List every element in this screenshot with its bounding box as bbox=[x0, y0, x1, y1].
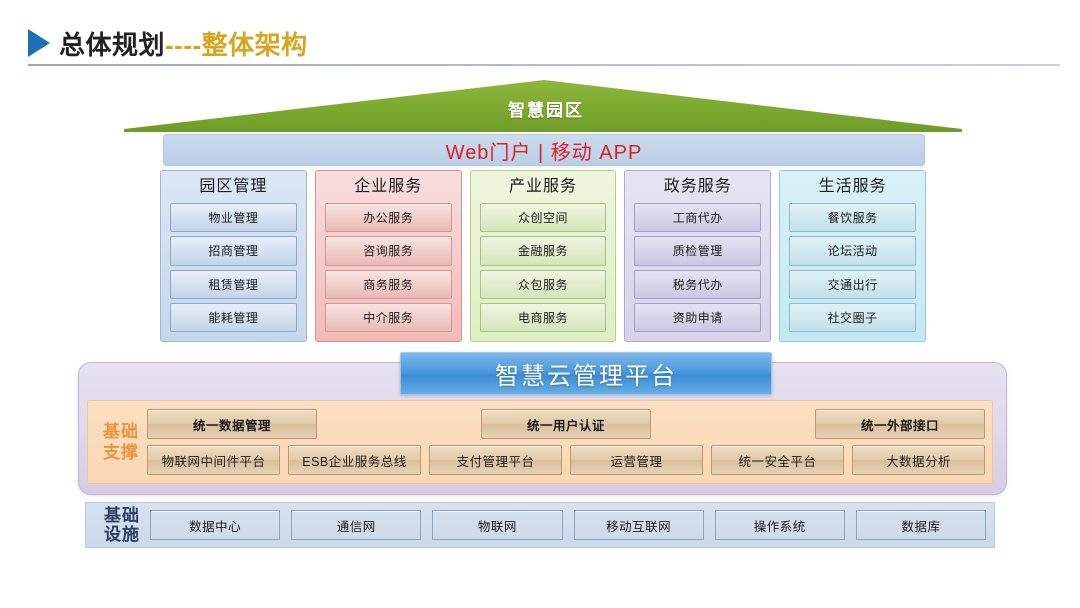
service-item-list: 物业管理招商管理租赁管理能耗管理 bbox=[170, 203, 297, 332]
service-column-title: 园区管理 bbox=[170, 176, 297, 198]
service-item[interactable]: 资助申请 bbox=[634, 303, 761, 332]
infrastructure-label: 基础 设施 bbox=[94, 506, 150, 544]
support-label-line2: 支撑 bbox=[95, 442, 147, 463]
service-item[interactable]: 电商服务 bbox=[480, 303, 607, 332]
support-capability-box[interactable]: 统一外部接口 bbox=[815, 409, 985, 439]
infrastructure-panel: 基础 设施 数据中心通信网物联网移动互联网操作系统数据库 bbox=[85, 502, 995, 548]
service-column-title: 企业服务 bbox=[325, 176, 452, 198]
page-title: 总体规划----整体架构 bbox=[59, 25, 308, 62]
service-column-title: 政务服务 bbox=[634, 176, 761, 198]
infrastructure-item[interactable]: 移动互联网 bbox=[574, 510, 704, 540]
service-item[interactable]: 商务服务 bbox=[325, 270, 452, 299]
service-item[interactable]: 办公服务 bbox=[325, 203, 452, 232]
infrastructure-label-line1: 基础 bbox=[94, 506, 150, 525]
support-label: 基础 支撑 bbox=[95, 421, 147, 463]
support-row-top: 统一数据管理统一用户认证统一外部接口 bbox=[147, 409, 985, 439]
service-item[interactable]: 招商管理 bbox=[170, 236, 297, 265]
service-item[interactable]: 金融服务 bbox=[480, 236, 607, 265]
service-item[interactable]: 中介服务 bbox=[325, 303, 452, 332]
play-triangle-icon bbox=[28, 29, 50, 57]
infrastructure-items: 数据中心通信网物联网移动互联网操作系统数据库 bbox=[150, 510, 986, 540]
service-item[interactable]: 社交圈子 bbox=[789, 303, 916, 332]
support-row-bottom: 物联网中间件平台ESB企业服务总线支付管理平台运营管理统一安全平台大数据分析 bbox=[147, 445, 985, 475]
service-column-title: 产业服务 bbox=[480, 176, 607, 198]
service-item[interactable]: 物业管理 bbox=[170, 203, 297, 232]
support-component-box[interactable]: 物联网中间件平台 bbox=[147, 445, 280, 475]
roof-shape: 智慧园区 bbox=[124, 80, 962, 132]
portal-bar[interactable]: Web门户 | 移动 APP bbox=[163, 134, 925, 166]
infrastructure-item[interactable]: 数据中心 bbox=[150, 510, 280, 540]
cloud-platform-label: 智慧云管理平台 bbox=[495, 356, 677, 391]
cloud-platform-bar[interactable]: 智慧云管理平台 bbox=[400, 352, 772, 395]
support-component-box[interactable]: ESB企业服务总线 bbox=[288, 445, 421, 475]
portal-label: Web门户 | 移动 APP bbox=[446, 136, 643, 165]
service-item[interactable]: 餐饮服务 bbox=[789, 203, 916, 232]
support-rows: 统一数据管理统一用户认证统一外部接口 物联网中间件平台ESB企业服务总线支付管理… bbox=[147, 407, 985, 477]
infrastructure-item[interactable]: 物联网 bbox=[432, 510, 562, 540]
service-item-list: 办公服务咨询服务商务服务中介服务 bbox=[325, 203, 452, 332]
service-item[interactable]: 质检管理 bbox=[634, 236, 761, 265]
service-item[interactable]: 咨询服务 bbox=[325, 236, 452, 265]
service-item-list: 餐饮服务论坛活动交通出行社交圈子 bbox=[789, 203, 916, 332]
title-divider bbox=[28, 64, 1060, 66]
service-column-3: 产业服务众创空间金融服务众包服务电商服务 bbox=[470, 170, 617, 342]
page-title-bar: 总体规划----整体架构 bbox=[28, 22, 1060, 64]
support-component-box[interactable]: 运营管理 bbox=[570, 445, 703, 475]
infrastructure-item[interactable]: 数据库 bbox=[856, 510, 986, 540]
support-component-box[interactable]: 支付管理平台 bbox=[429, 445, 562, 475]
service-item[interactable]: 众创空间 bbox=[480, 203, 607, 232]
support-panel: 基础 支撑 统一数据管理统一用户认证统一外部接口 物联网中间件平台ESB企业服务… bbox=[87, 400, 993, 484]
support-label-line1: 基础 bbox=[95, 421, 147, 442]
infrastructure-item[interactable]: 操作系统 bbox=[715, 510, 845, 540]
service-column-title: 生活服务 bbox=[789, 176, 916, 198]
support-capability-box[interactable]: 统一用户认证 bbox=[481, 409, 651, 439]
support-capability-box[interactable]: 统一数据管理 bbox=[147, 409, 317, 439]
service-column-4: 政务服务工商代办质检管理税务代办资助申请 bbox=[624, 170, 771, 342]
service-item[interactable]: 租赁管理 bbox=[170, 270, 297, 299]
support-component-box[interactable]: 大数据分析 bbox=[852, 445, 985, 475]
support-component-box[interactable]: 统一安全平台 bbox=[711, 445, 844, 475]
service-columns: 园区管理物业管理招商管理租赁管理能耗管理企业服务办公服务咨询服务商务服务中介服务… bbox=[160, 170, 926, 342]
service-item[interactable]: 能耗管理 bbox=[170, 303, 297, 332]
infrastructure-item[interactable]: 通信网 bbox=[291, 510, 421, 540]
service-column-1: 园区管理物业管理招商管理租赁管理能耗管理 bbox=[160, 170, 307, 342]
roof-label: 智慧园区 bbox=[124, 96, 962, 121]
service-item[interactable]: 税务代办 bbox=[634, 270, 761, 299]
service-item[interactable]: 论坛活动 bbox=[789, 236, 916, 265]
page-title-sub: ----整体架构 bbox=[165, 30, 308, 60]
service-column-2: 企业服务办公服务咨询服务商务服务中介服务 bbox=[315, 170, 462, 342]
service-column-5: 生活服务餐饮服务论坛活动交通出行社交圈子 bbox=[779, 170, 926, 342]
service-item[interactable]: 工商代办 bbox=[634, 203, 761, 232]
service-item-list: 工商代办质检管理税务代办资助申请 bbox=[634, 203, 761, 332]
service-item[interactable]: 众包服务 bbox=[480, 270, 607, 299]
service-item[interactable]: 交通出行 bbox=[789, 270, 916, 299]
infrastructure-label-line2: 设施 bbox=[94, 525, 150, 544]
service-item-list: 众创空间金融服务众包服务电商服务 bbox=[480, 203, 607, 332]
page-title-main: 总体规划 bbox=[59, 30, 165, 60]
